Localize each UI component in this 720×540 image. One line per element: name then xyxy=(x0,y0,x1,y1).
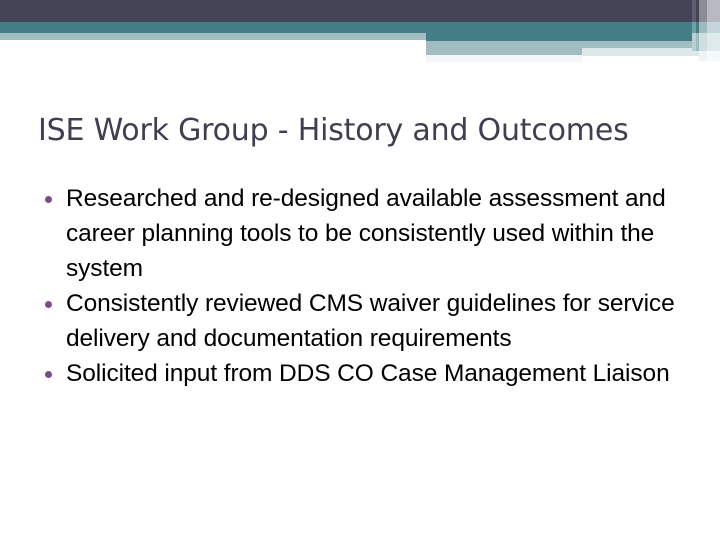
list-item: Solicited input from DDS CO Case Managem… xyxy=(36,356,696,391)
header-vertical-stripe-7 xyxy=(699,22,707,33)
bullet-dot-icon xyxy=(45,196,52,203)
slide-body: Researched and re-designed available ass… xyxy=(36,181,696,391)
header-band-light-right-1 xyxy=(426,41,720,48)
header-band-teal-right xyxy=(426,33,720,41)
header-vertical-stripe-4 xyxy=(707,0,720,22)
header-band-light-left xyxy=(0,33,426,40)
list-item-text: Consistently reviewed CMS waiver guideli… xyxy=(66,286,696,356)
list-item: Researched and re-designed available ass… xyxy=(36,181,696,286)
header-decoration xyxy=(0,0,720,70)
header-band-faint-bottom xyxy=(426,55,582,62)
slide-canvas: ISE Work Group - History and Outcomes Re… xyxy=(0,0,720,540)
header-vertical-stripe-13 xyxy=(699,51,707,61)
header-vertical-stripe-3 xyxy=(699,0,707,22)
list-item: Consistently reviewed CMS waiver guideli… xyxy=(36,286,696,356)
header-band-light-right-2 xyxy=(426,48,582,55)
header-vertical-stripe-12 xyxy=(707,33,720,51)
header-band-dark xyxy=(0,0,720,22)
header-vertical-stripe-11 xyxy=(699,33,707,51)
list-item-text: Solicited input from DDS CO Case Managem… xyxy=(66,356,696,391)
header-vertical-stripe-14 xyxy=(707,51,720,61)
list-item-text: Researched and re-designed available ass… xyxy=(66,181,696,286)
header-vertical-stripe-8 xyxy=(707,22,720,33)
header-band-teal xyxy=(0,22,720,33)
bullet-dot-icon xyxy=(45,301,52,308)
bullet-dot-icon xyxy=(45,371,52,378)
slide-title: ISE Work Group - History and Outcomes xyxy=(38,114,678,149)
